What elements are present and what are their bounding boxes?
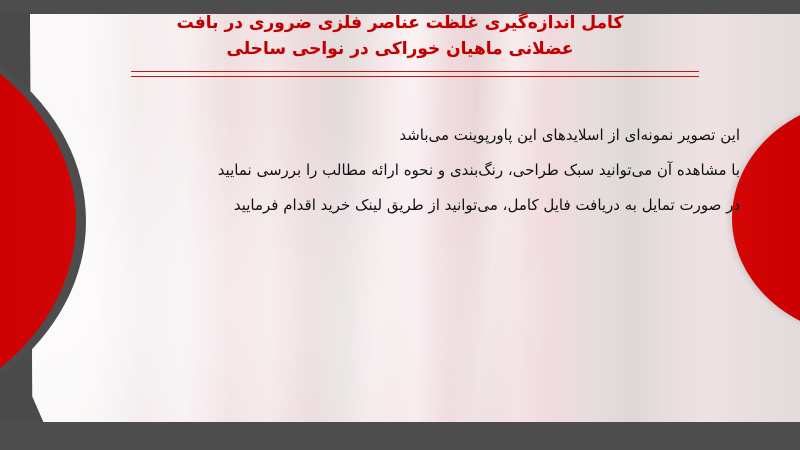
slide-body-line-2: با مشاهده آن می‌توانید سبک طراحی، رنگ‌بن… xyxy=(60,153,740,188)
presentation-slide: کامل اندازه‌گیری غلظت عناصر فلزی ضروری د… xyxy=(0,0,800,450)
slide-body-line-3: در صورت تمایل به دریافت فایل کامل، می‌تو… xyxy=(60,188,740,223)
slide-title-line-2: عضلانی ماهیان خوراکی در نواحی ساحلی xyxy=(100,36,700,62)
slide-content: کامل اندازه‌گیری غلظت عناصر فلزی ضروری د… xyxy=(0,0,800,450)
slide-body-line-1: این تصویر نمونه‌ای از اسلایدهای این پاور… xyxy=(60,118,740,153)
slide-title: کامل اندازه‌گیری غلظت عناصر فلزی ضروری د… xyxy=(100,10,700,62)
slide-body-text: این تصویر نمونه‌ای از اسلایدهای این پاور… xyxy=(60,118,740,223)
title-divider-rule xyxy=(131,71,699,77)
slide-title-line-1: کامل اندازه‌گیری غلظت عناصر فلزی ضروری د… xyxy=(100,10,700,36)
